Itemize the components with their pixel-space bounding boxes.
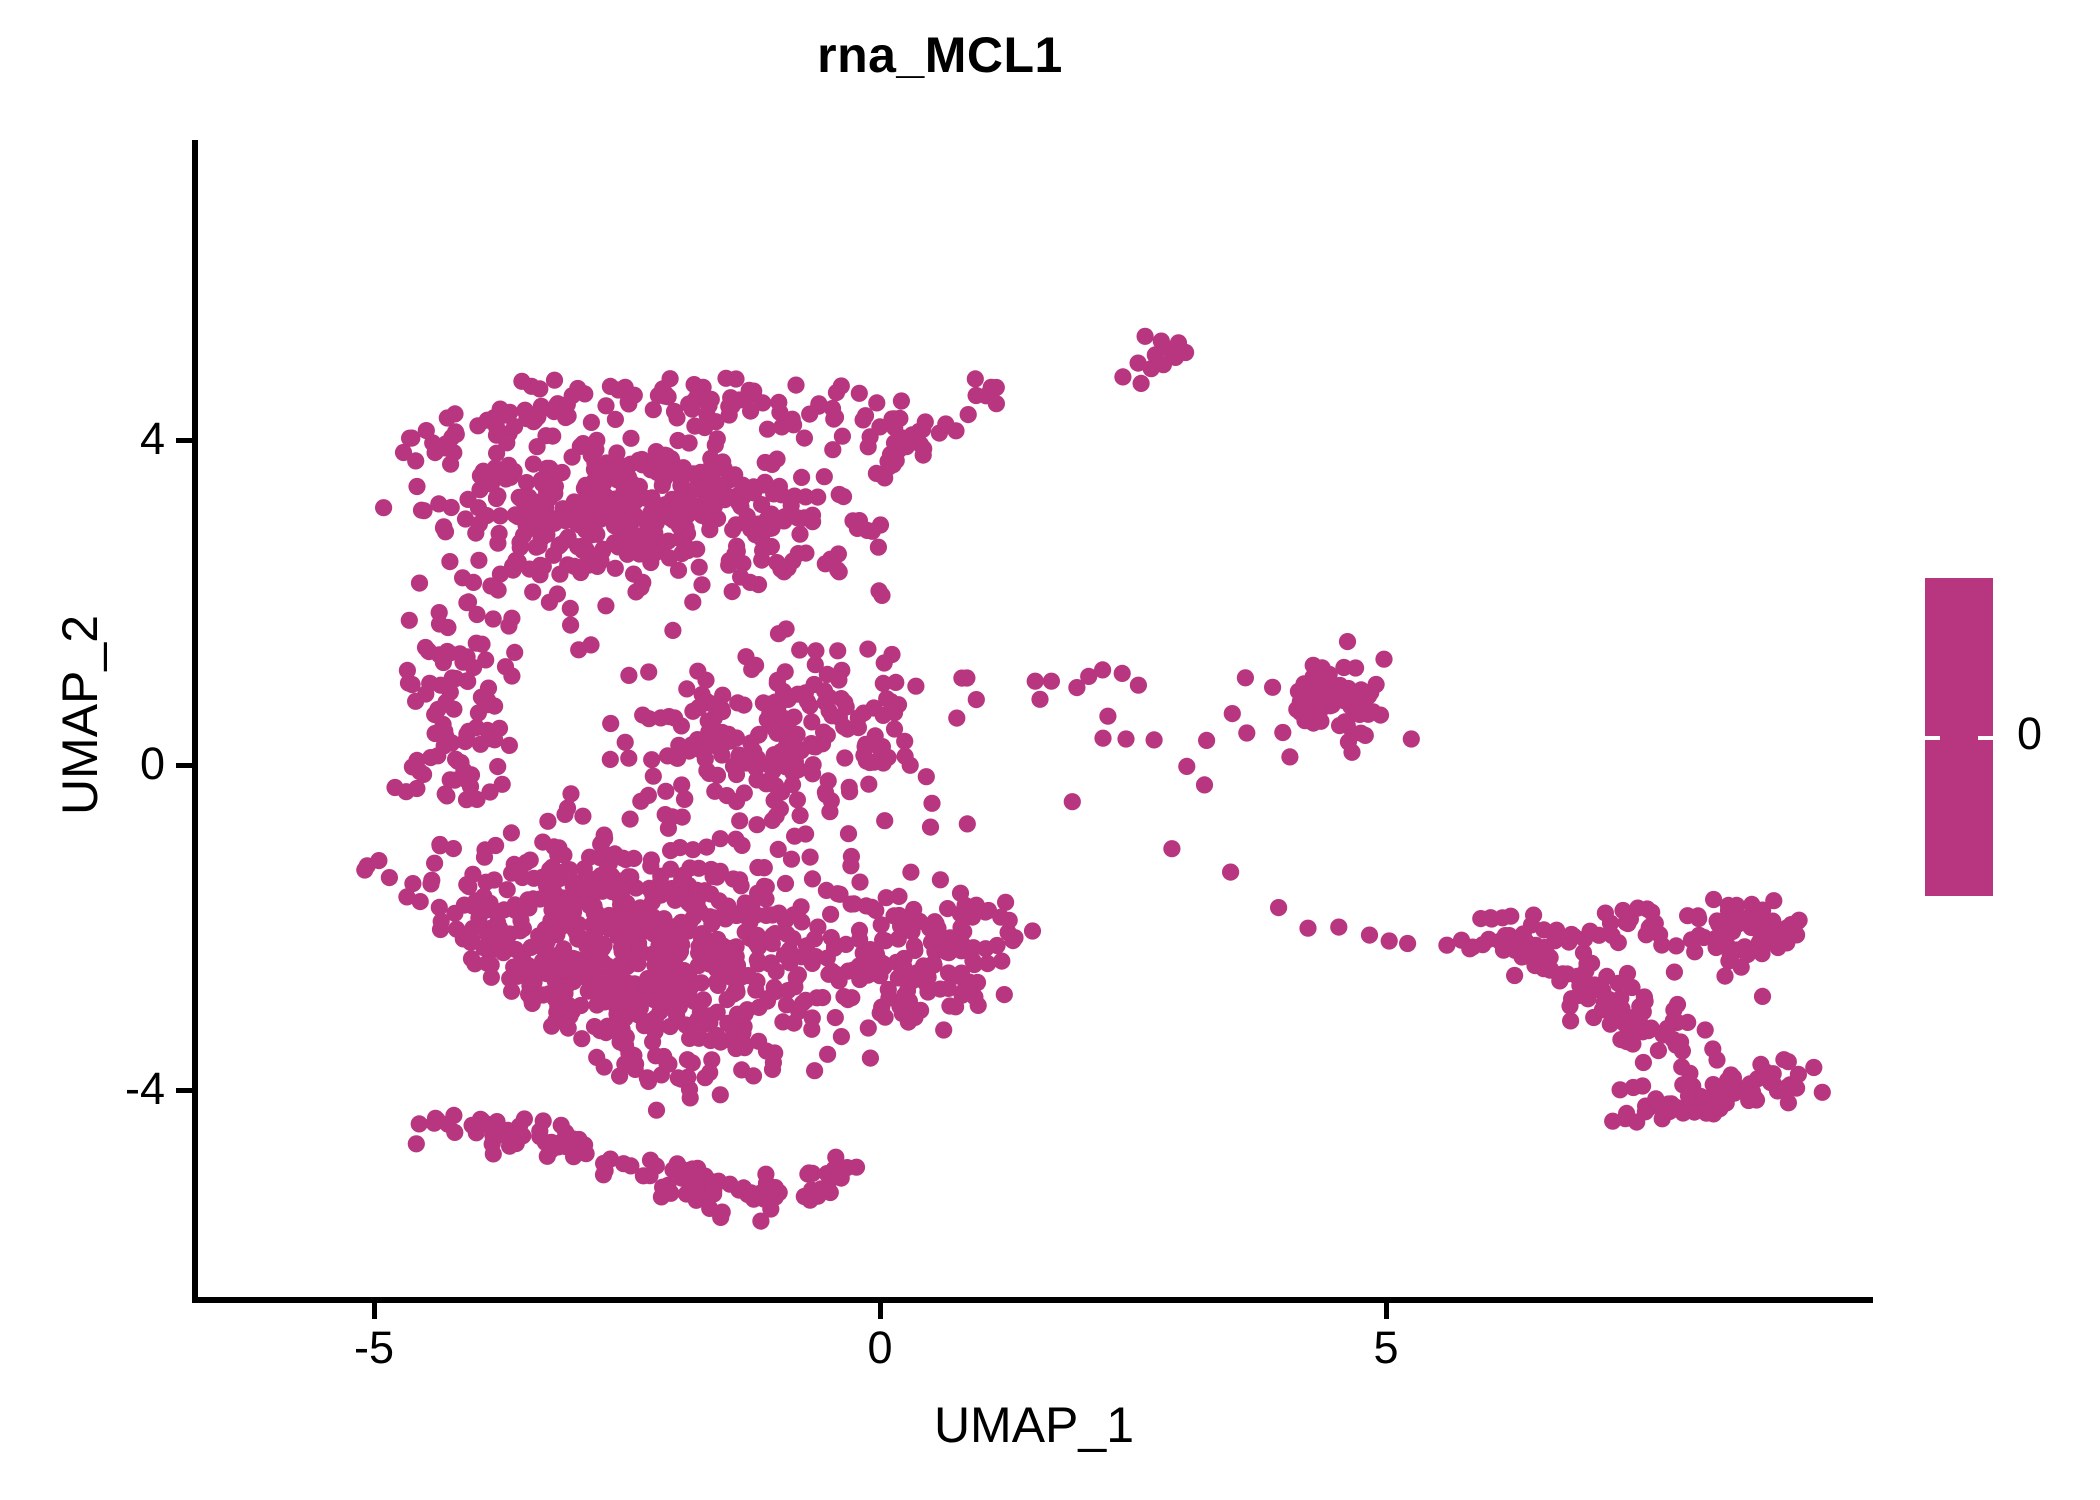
scatter-point xyxy=(693,974,710,991)
scatter-point xyxy=(758,1043,775,1060)
scatter-point xyxy=(503,983,520,1000)
scatter-point xyxy=(876,812,893,829)
scatter-point xyxy=(671,916,688,933)
scatter-point xyxy=(925,956,942,973)
x-axis-title: UMAP_1 xyxy=(195,1400,1873,1450)
scatter-point xyxy=(1130,677,1147,694)
scatter-point xyxy=(569,931,586,948)
scatter-point xyxy=(899,982,916,999)
scatter-point xyxy=(595,936,612,953)
scatter-point xyxy=(785,906,802,923)
scatter-point xyxy=(1769,1082,1786,1099)
scatter-point xyxy=(625,566,642,583)
scatter-point xyxy=(737,1037,754,1054)
scatter-point xyxy=(838,698,855,715)
scatter-point xyxy=(940,980,957,997)
scatter-point xyxy=(1497,927,1514,944)
scatter-point xyxy=(678,507,695,524)
scatter-point xyxy=(419,642,436,659)
scatter-point xyxy=(411,575,428,592)
colorbar-tick-right xyxy=(1978,736,1993,740)
scatter-point xyxy=(1769,939,1786,956)
scatter-point xyxy=(470,499,487,516)
scatter-point xyxy=(1754,988,1771,1005)
scatter-point xyxy=(640,787,657,804)
scatter-point xyxy=(1130,355,1147,372)
scatter-point xyxy=(1780,1053,1797,1070)
scatter-point xyxy=(1705,891,1722,908)
scatter-point xyxy=(459,673,476,690)
scatter-point xyxy=(1292,693,1309,710)
scatter-point xyxy=(1708,1051,1725,1068)
scatter-point xyxy=(525,974,542,991)
scatter-point xyxy=(1765,1065,1782,1082)
scatter-point xyxy=(511,534,528,551)
scatter-point xyxy=(750,999,767,1016)
x-tick-mark xyxy=(372,1303,377,1319)
scatter-point xyxy=(919,983,936,1000)
scatter-point xyxy=(400,675,417,692)
scatter-point xyxy=(1673,1058,1690,1075)
scatter-point xyxy=(1438,937,1455,954)
scatter-point xyxy=(878,889,895,906)
scatter-point xyxy=(824,400,841,417)
scatter-point xyxy=(534,834,551,851)
scatter-point xyxy=(819,950,836,967)
scatter-point xyxy=(489,758,506,775)
scatter-point xyxy=(977,903,994,920)
scatter-point xyxy=(642,1152,659,1169)
scatter-point xyxy=(610,467,627,484)
y-tick-mark xyxy=(176,438,192,443)
y-tick-mark xyxy=(176,1088,192,1093)
scatter-point xyxy=(918,768,935,785)
scatter-point xyxy=(673,776,690,793)
scatter-point xyxy=(427,725,444,742)
y-axis-line xyxy=(192,140,198,1303)
x-tick-label: -5 xyxy=(274,1325,474,1370)
scatter-point xyxy=(356,861,373,878)
scatter-point xyxy=(731,812,748,829)
y-tick-mark xyxy=(176,763,192,768)
scatter-point xyxy=(1494,909,1511,926)
scatter-point xyxy=(660,533,677,550)
scatter-point xyxy=(709,931,726,948)
scatter-point xyxy=(745,905,762,922)
scatter-point xyxy=(522,852,539,869)
scatter-point xyxy=(1604,927,1621,944)
scatter-point xyxy=(512,912,529,929)
scatter-point xyxy=(435,518,452,535)
scatter-point xyxy=(796,430,813,447)
scatter-point xyxy=(546,372,563,389)
scatter-point xyxy=(567,877,584,894)
scatter-point xyxy=(663,450,680,467)
scatter-point xyxy=(1314,674,1331,691)
scatter-point xyxy=(801,406,818,423)
y-tick-label: -4 xyxy=(125,1066,165,1111)
scatter-point xyxy=(887,674,904,691)
scatter-point xyxy=(1686,943,1703,960)
scatter-point xyxy=(495,944,512,961)
scatter-point xyxy=(479,692,496,709)
scatter-point xyxy=(370,852,387,869)
scatter-point xyxy=(602,378,619,395)
y-axis-title: UMAP_2 xyxy=(55,415,105,1015)
scatter-point xyxy=(440,679,457,696)
scatter-point xyxy=(871,967,888,984)
scatter-point xyxy=(605,972,622,989)
scatter-point xyxy=(501,737,518,754)
scatter-point xyxy=(464,920,481,937)
scatter-point xyxy=(513,373,530,390)
scatter-point xyxy=(902,864,919,881)
scatter-point xyxy=(1597,905,1614,922)
scatter-point xyxy=(773,418,790,435)
scatter-point xyxy=(941,997,958,1014)
scatter-point xyxy=(411,1115,428,1132)
scatter-point xyxy=(806,1062,823,1079)
scatter-point xyxy=(1666,964,1683,981)
scatter-point xyxy=(880,989,897,1006)
scatter-point xyxy=(786,828,803,845)
scatter-point xyxy=(814,735,831,752)
scatter-point xyxy=(527,411,544,428)
scatter-point xyxy=(597,597,614,614)
scatter-point xyxy=(729,1006,746,1023)
scatter-point xyxy=(968,691,985,708)
scatter-point xyxy=(640,663,657,680)
scatter-point xyxy=(770,841,787,858)
scatter-point xyxy=(1612,1081,1629,1098)
scatter-point xyxy=(839,991,856,1008)
scatter-point xyxy=(1177,344,1194,361)
scatter-point xyxy=(793,469,810,486)
scatter-point xyxy=(1338,717,1355,734)
scatter-point xyxy=(1146,731,1163,748)
scatter-point xyxy=(779,926,796,943)
scatter-point xyxy=(922,819,939,836)
scatter-point xyxy=(1602,1016,1619,1033)
scatter-point xyxy=(789,791,806,808)
scatter-point xyxy=(807,642,824,659)
scatter-point xyxy=(797,488,814,505)
scatter-point xyxy=(876,469,893,486)
scatter-point xyxy=(537,427,554,444)
scatter-point xyxy=(870,539,887,556)
scatter-point xyxy=(724,583,741,600)
scatter-point xyxy=(1024,922,1041,939)
scatter-point xyxy=(690,699,707,716)
scatter-point xyxy=(596,1058,613,1075)
scatter-point xyxy=(1372,707,1389,724)
y-tick-label: 4 xyxy=(140,416,165,461)
scatter-point xyxy=(573,1030,590,1047)
scatter-point xyxy=(771,478,788,495)
scatter-point xyxy=(819,666,836,683)
scatter-point xyxy=(435,654,452,671)
scatter-point xyxy=(381,869,398,886)
scatter-point xyxy=(627,901,644,918)
scatter-point xyxy=(804,870,821,887)
scatter-point xyxy=(1643,1020,1660,1037)
scatter-point xyxy=(1506,967,1523,984)
scatter-point xyxy=(1281,748,1298,765)
scatter-point xyxy=(1604,1113,1621,1130)
scatter-point xyxy=(506,896,523,913)
scatter-point xyxy=(559,800,576,817)
scatter-point xyxy=(714,703,731,720)
scatter-point xyxy=(958,669,975,686)
scatter-point xyxy=(583,414,600,431)
scatter-point xyxy=(693,507,710,524)
scatter-point xyxy=(822,906,839,923)
scatter-point xyxy=(996,986,1013,1003)
scatter-point xyxy=(401,612,418,629)
scatter-point xyxy=(602,751,619,768)
colorbar-tick-label: 0 xyxy=(2017,711,2042,756)
scatter-point xyxy=(1330,919,1347,936)
scatter-point xyxy=(860,1019,877,1036)
scatter-point xyxy=(736,784,753,801)
x-tick-mark xyxy=(1384,1303,1389,1319)
scatter-point xyxy=(398,783,415,800)
scatter-point xyxy=(1697,1021,1714,1038)
scatter-point xyxy=(527,520,544,537)
scatter-point xyxy=(1669,996,1686,1013)
scatter-point xyxy=(576,385,593,402)
scatter-point xyxy=(767,717,784,734)
scatter-point xyxy=(586,905,603,922)
scatter-point xyxy=(728,538,745,555)
scatter-point xyxy=(551,983,568,1000)
scatter-point xyxy=(465,574,482,591)
scatter-point xyxy=(742,574,759,591)
scatter-point xyxy=(875,707,892,724)
scatter-point xyxy=(457,733,474,750)
scatter-point xyxy=(1659,1020,1676,1037)
scatter-point xyxy=(748,816,765,833)
scatter-point xyxy=(445,701,462,718)
scatter-point xyxy=(673,871,690,888)
scatter-point xyxy=(1361,927,1378,944)
scatter-point xyxy=(790,741,807,758)
scatter-point xyxy=(598,454,615,471)
scatter-point xyxy=(730,750,747,767)
scatter-point xyxy=(666,709,683,726)
scatter-point xyxy=(1461,940,1478,957)
scatter-point xyxy=(432,921,449,938)
scatter-point xyxy=(841,783,858,800)
scatter-point xyxy=(719,991,736,1008)
scatter-point xyxy=(471,515,488,532)
scatter-point xyxy=(993,953,1010,970)
scatter-point xyxy=(592,867,609,884)
scatter-point xyxy=(1222,864,1239,881)
scatter-point xyxy=(593,834,610,851)
scatter-point xyxy=(1586,976,1603,993)
scatter-point xyxy=(1690,910,1707,927)
scatter-point xyxy=(1178,758,1195,775)
scatter-point xyxy=(1027,673,1044,690)
scatter-point xyxy=(468,606,485,623)
scatter-point xyxy=(988,379,1005,396)
scatter-point xyxy=(874,931,891,948)
scatter-point xyxy=(696,882,713,899)
scatter-point xyxy=(691,559,708,576)
scatter-point xyxy=(625,850,642,867)
scatter-point xyxy=(937,415,954,432)
scatter-point xyxy=(712,1209,729,1226)
scatter-point xyxy=(412,893,429,910)
scatter-point xyxy=(754,394,771,411)
scatter-point xyxy=(1094,730,1111,747)
scatter-point xyxy=(653,923,670,940)
scatter-point xyxy=(1526,947,1543,964)
scatter-point xyxy=(745,1067,762,1084)
scatter-point xyxy=(525,870,542,887)
scatter-point xyxy=(478,874,495,891)
scatter-point xyxy=(844,512,861,529)
scatter-point xyxy=(1728,897,1745,914)
scatter-point xyxy=(570,641,587,658)
scatter-point xyxy=(664,1161,681,1178)
scatter-point xyxy=(645,908,662,925)
scatter-point xyxy=(614,503,631,520)
scatter-point xyxy=(914,421,931,438)
scatter-point xyxy=(622,536,639,553)
scatter-point xyxy=(767,777,784,794)
scatter-point xyxy=(524,583,541,600)
scatter-point xyxy=(666,403,683,420)
scatter-point xyxy=(690,381,707,398)
scatter-point xyxy=(578,1145,595,1162)
scatter-point xyxy=(1551,972,1568,989)
scatter-point xyxy=(770,394,787,411)
scatter-point xyxy=(445,1107,462,1124)
scatter-point xyxy=(988,395,1005,412)
scatter-point xyxy=(862,1050,879,1067)
scatter-point xyxy=(597,397,614,414)
scatter-point xyxy=(584,951,601,968)
scatter-point xyxy=(648,1102,665,1119)
scatter-point xyxy=(430,440,447,457)
colorbar-tick-left xyxy=(1925,736,1940,740)
scatter-point xyxy=(664,491,681,508)
scatter-point xyxy=(997,894,1014,911)
scatter-point xyxy=(562,617,579,634)
scatter-point xyxy=(426,1115,443,1132)
scatter-point xyxy=(754,542,771,559)
scatter-point xyxy=(375,499,392,516)
scatter-point xyxy=(516,1110,533,1127)
scatter-point xyxy=(654,477,671,494)
scatter-point xyxy=(503,865,520,882)
scatter-point xyxy=(970,997,987,1014)
scatter-point xyxy=(426,706,443,723)
scatter-point xyxy=(1638,926,1655,943)
scatter-point xyxy=(448,921,465,938)
scatter-point xyxy=(1650,1042,1667,1059)
scatter-point xyxy=(829,885,846,902)
scatter-point xyxy=(644,1033,661,1050)
scatter-point xyxy=(554,464,571,481)
scatter-point xyxy=(712,830,729,847)
scatter-point xyxy=(734,1022,751,1039)
scatter-point xyxy=(886,720,903,737)
scatter-point xyxy=(803,713,820,730)
scatter-point xyxy=(1741,1075,1758,1092)
scatter-point xyxy=(890,930,907,947)
scatter-point xyxy=(455,762,472,779)
scatter-point xyxy=(669,432,686,449)
scatter-point xyxy=(464,1117,481,1134)
scatter-point xyxy=(742,734,759,751)
scatter-point xyxy=(484,1136,501,1153)
scatter-point xyxy=(448,426,465,443)
scatter-point xyxy=(717,370,734,387)
scatter-point xyxy=(549,846,566,863)
scatter-point xyxy=(438,787,455,804)
scatter-point xyxy=(893,392,910,409)
scatter-point xyxy=(867,727,884,744)
scatter-point xyxy=(439,619,456,636)
scatter-point xyxy=(1576,931,1593,948)
scatter-point xyxy=(755,476,772,493)
scatter-point xyxy=(580,523,597,540)
scatter-point xyxy=(802,849,819,866)
scatter-point xyxy=(1117,730,1134,747)
scatter-point xyxy=(758,878,775,895)
scatter-point xyxy=(741,382,758,399)
scatter-point xyxy=(446,905,463,922)
scatter-point xyxy=(503,667,520,684)
scatter-point xyxy=(989,937,1006,954)
scatter-point xyxy=(626,976,643,993)
scatter-point xyxy=(770,905,787,922)
scatter-point xyxy=(408,478,425,495)
scatter-point xyxy=(1399,935,1416,952)
scatter-point xyxy=(557,512,574,529)
scatter-point xyxy=(639,537,656,554)
scatter-point xyxy=(819,1046,836,1063)
scatter-point xyxy=(821,689,838,706)
scatter-point xyxy=(415,502,432,519)
scatter-point xyxy=(767,983,784,1000)
scatter-point xyxy=(1562,1012,1579,1029)
chart-root: rna_MCL1 -404-505 UMAP_1 UMAP_2 0 xyxy=(0,0,2100,1500)
scatter-point xyxy=(1403,730,1420,747)
scatter-point xyxy=(827,1009,844,1026)
scatter-point xyxy=(562,785,579,802)
legend-colorbar-group: 0 xyxy=(1925,578,2085,898)
scatter-point xyxy=(1695,1095,1712,1112)
scatter-point xyxy=(1274,724,1291,741)
scatter-point xyxy=(833,1028,850,1045)
scatter-point xyxy=(532,927,549,944)
scatter-point xyxy=(468,791,485,808)
scatter-point xyxy=(968,387,985,404)
scatter-point xyxy=(418,422,435,439)
scatter-point xyxy=(835,718,852,735)
scatter-point xyxy=(622,811,639,828)
scatter-point xyxy=(682,1089,699,1106)
scatter-point xyxy=(705,461,722,478)
scatter-point xyxy=(935,1021,952,1038)
scatter-point xyxy=(653,990,670,1007)
scatter-point xyxy=(915,440,932,457)
scatter-point xyxy=(781,954,798,971)
